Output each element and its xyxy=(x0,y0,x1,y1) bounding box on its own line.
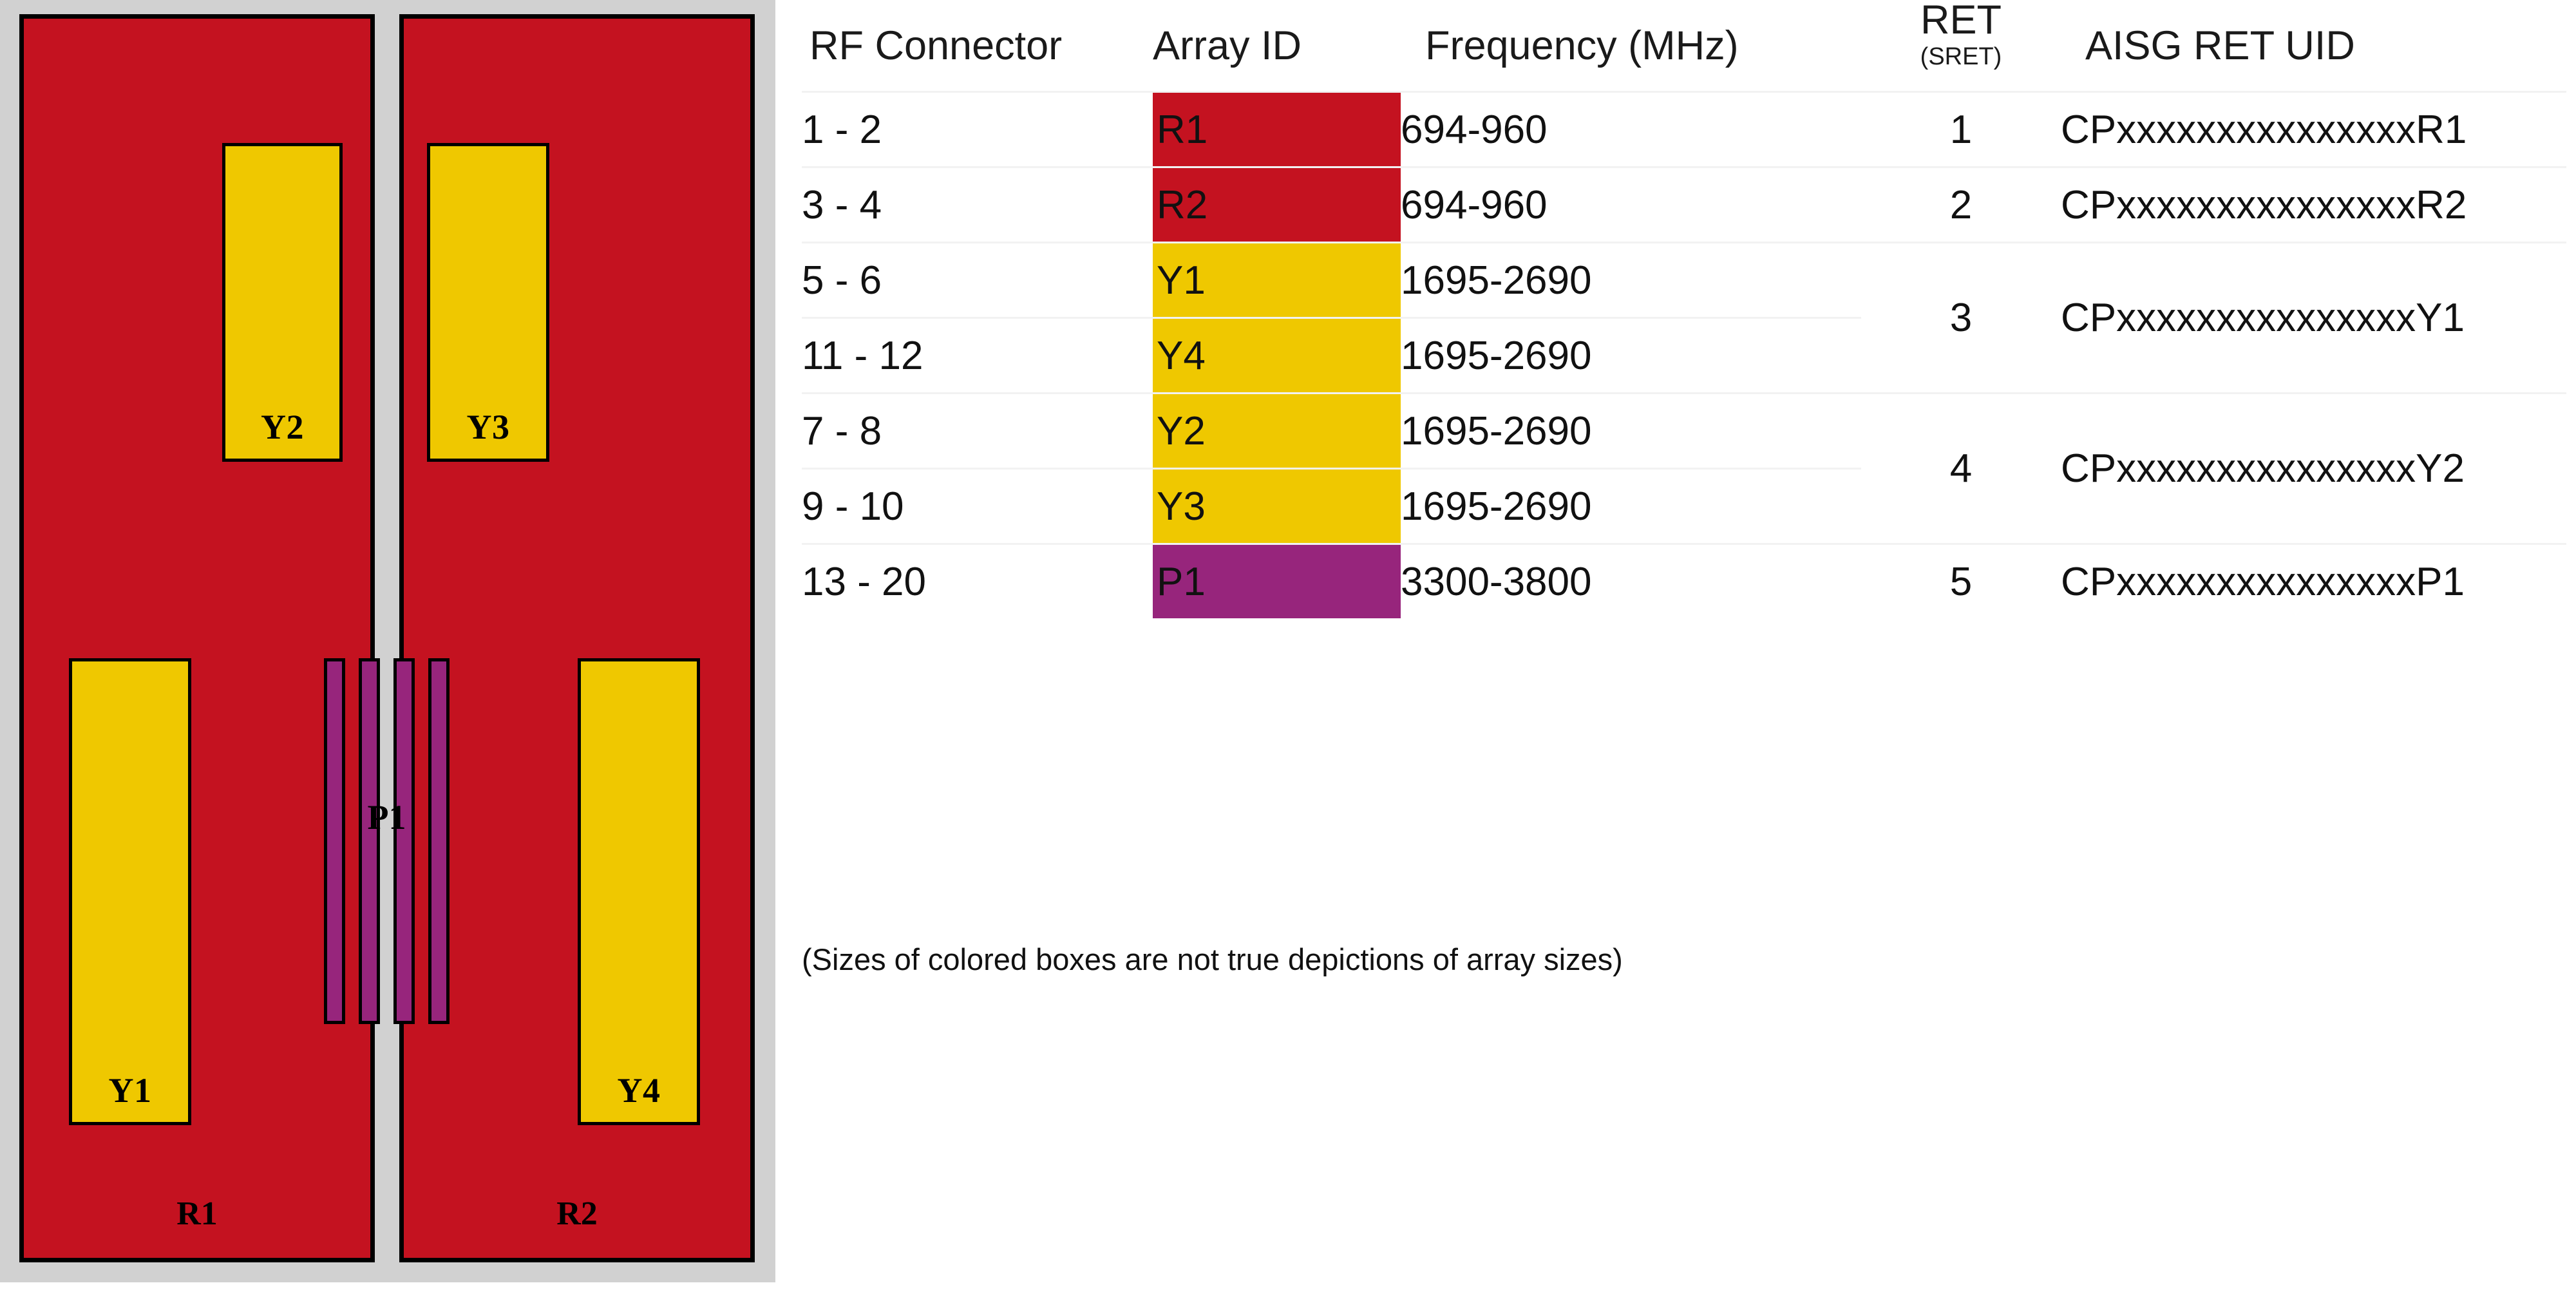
table-row: 3 - 4R2694-9602CPxxxxxxxxxxxxxxxR2 xyxy=(802,167,2566,243)
cell-ret: 5 xyxy=(1861,544,2061,619)
cell-array-id: R2 xyxy=(1153,167,1401,243)
array-box-y2: Y2 xyxy=(222,143,343,462)
cell-frequency: 1695-2690 xyxy=(1401,243,1861,318)
cell-ret: 2 xyxy=(1861,167,2061,243)
cell-array-id: Y1 xyxy=(1153,243,1401,318)
column-header-rf-connector: RF Connector xyxy=(802,0,1153,92)
antenna-panel-label-r1: R1 xyxy=(19,1195,375,1233)
rf-configuration-table-wrap: RF Connector Array ID Frequency (MHz) RE… xyxy=(802,0,2566,1301)
cell-aisg-ret-uid: CPxxxxxxxxxxxxxxxR2 xyxy=(2061,167,2566,243)
cell-aisg-ret-uid: CPxxxxxxxxxxxxxxxP1 xyxy=(2061,544,2566,619)
antenna-panel-label-r2: R2 xyxy=(399,1195,755,1233)
cell-rf-connector: 7 - 8 xyxy=(802,394,1153,469)
array-id-swatch: Y2 xyxy=(1153,394,1401,468)
cell-array-id: P1 xyxy=(1153,544,1401,619)
table-row: 1 - 2R1694-9601CPxxxxxxxxxxxxxxxR1 xyxy=(802,92,2566,167)
cell-rf-connector: 3 - 4 xyxy=(802,167,1153,243)
array-id-swatch: Y4 xyxy=(1153,319,1401,392)
p1-strip-1 xyxy=(324,658,345,1024)
rf-configuration-table: RF Connector Array ID Frequency (MHz) RE… xyxy=(802,0,2566,618)
cell-array-id: Y3 xyxy=(1153,469,1401,544)
cell-frequency: 1695-2690 xyxy=(1401,318,1861,394)
p1-strip-4 xyxy=(428,658,450,1024)
p1-strip-3 xyxy=(393,658,415,1024)
array-id-label: P1 xyxy=(1157,559,1206,605)
table-header: RF Connector Array ID Frequency (MHz) RE… xyxy=(802,0,2566,92)
cell-frequency: 1695-2690 xyxy=(1401,394,1861,469)
cell-rf-connector: 5 - 6 xyxy=(802,243,1153,318)
array-id-label: Y3 xyxy=(1157,484,1206,529)
array-box-label-y2: Y2 xyxy=(261,410,304,459)
cell-aisg-ret-uid: CPxxxxxxxxxxxxxxxY2 xyxy=(2061,394,2566,544)
table-body: 1 - 2R1694-9601CPxxxxxxxxxxxxxxxR13 - 4R… xyxy=(802,92,2566,619)
array-id-swatch: Y3 xyxy=(1153,470,1401,543)
array-box-y4: Y4 xyxy=(578,658,700,1125)
cell-rf-connector: 9 - 10 xyxy=(802,469,1153,544)
cell-frequency: 3300-3800 xyxy=(1401,544,1861,619)
cell-array-id: Y2 xyxy=(1153,394,1401,469)
array-id-label: Y4 xyxy=(1157,333,1206,379)
array-box-y1: Y1 xyxy=(69,658,191,1125)
table-row: 7 - 8Y21695-26904CPxxxxxxxxxxxxxxxY2 xyxy=(802,394,2566,469)
footnote-text: (Sizes of colored boxes are not true dep… xyxy=(802,942,1623,977)
cell-frequency: 694-960 xyxy=(1401,92,1861,167)
array-id-label: Y2 xyxy=(1157,408,1206,454)
antenna-face-diagram: Y2 Y3 Y1 Y4 P1 R1 R2 xyxy=(0,0,775,1282)
array-id-label: R2 xyxy=(1157,182,1207,228)
cell-aisg-ret-uid: CPxxxxxxxxxxxxxxxR1 xyxy=(2061,92,2566,167)
column-header-aisg-ret-uid: AISG RET UID xyxy=(2061,0,2566,92)
cell-ret: 3 xyxy=(1861,243,2061,394)
cell-array-id: Y4 xyxy=(1153,318,1401,394)
table-row: 5 - 6Y11695-26903CPxxxxxxxxxxxxxxxY1 xyxy=(802,243,2566,318)
array-id-swatch: Y1 xyxy=(1153,243,1401,317)
cell-frequency: 694-960 xyxy=(1401,167,1861,243)
cell-frequency: 1695-2690 xyxy=(1401,469,1861,544)
array-box-label-y1: Y1 xyxy=(109,1073,152,1122)
column-header-array-id: Array ID xyxy=(1153,0,1401,92)
cell-rf-connector: 11 - 12 xyxy=(802,318,1153,394)
cell-ret: 4 xyxy=(1861,394,2061,544)
array-box-label-y3: Y3 xyxy=(467,410,510,459)
array-box-y3: Y3 xyxy=(427,143,549,462)
column-header-ret-main: RET xyxy=(1861,0,2061,41)
cell-ret: 1 xyxy=(1861,92,2061,167)
cell-rf-connector: 1 - 2 xyxy=(802,92,1153,167)
array-id-swatch: R2 xyxy=(1153,168,1401,242)
column-header-frequency: Frequency (MHz) xyxy=(1401,0,1861,92)
array-id-swatch: R1 xyxy=(1153,93,1401,166)
array-box-label-y4: Y4 xyxy=(618,1073,661,1122)
column-header-ret: RET (SRET) xyxy=(1861,0,2061,92)
cell-rf-connector: 13 - 20 xyxy=(802,544,1153,619)
array-id-label: R1 xyxy=(1157,107,1207,153)
column-header-ret-sub: (SRET) xyxy=(1861,44,2061,69)
cell-aisg-ret-uid: CPxxxxxxxxxxxxxxxY1 xyxy=(2061,243,2566,394)
table-row: 13 - 20P13300-38005CPxxxxxxxxxxxxxxxP1 xyxy=(802,544,2566,619)
cell-array-id: R1 xyxy=(1153,92,1401,167)
table-header-row: RF Connector Array ID Frequency (MHz) RE… xyxy=(802,0,2566,92)
antenna-array-reference-sheet: Y2 Y3 Y1 Y4 P1 R1 R2 RF xyxy=(0,0,2576,1301)
array-id-swatch: P1 xyxy=(1153,545,1401,618)
array-id-label: Y1 xyxy=(1157,258,1206,303)
p1-strip-2 xyxy=(359,658,380,1024)
